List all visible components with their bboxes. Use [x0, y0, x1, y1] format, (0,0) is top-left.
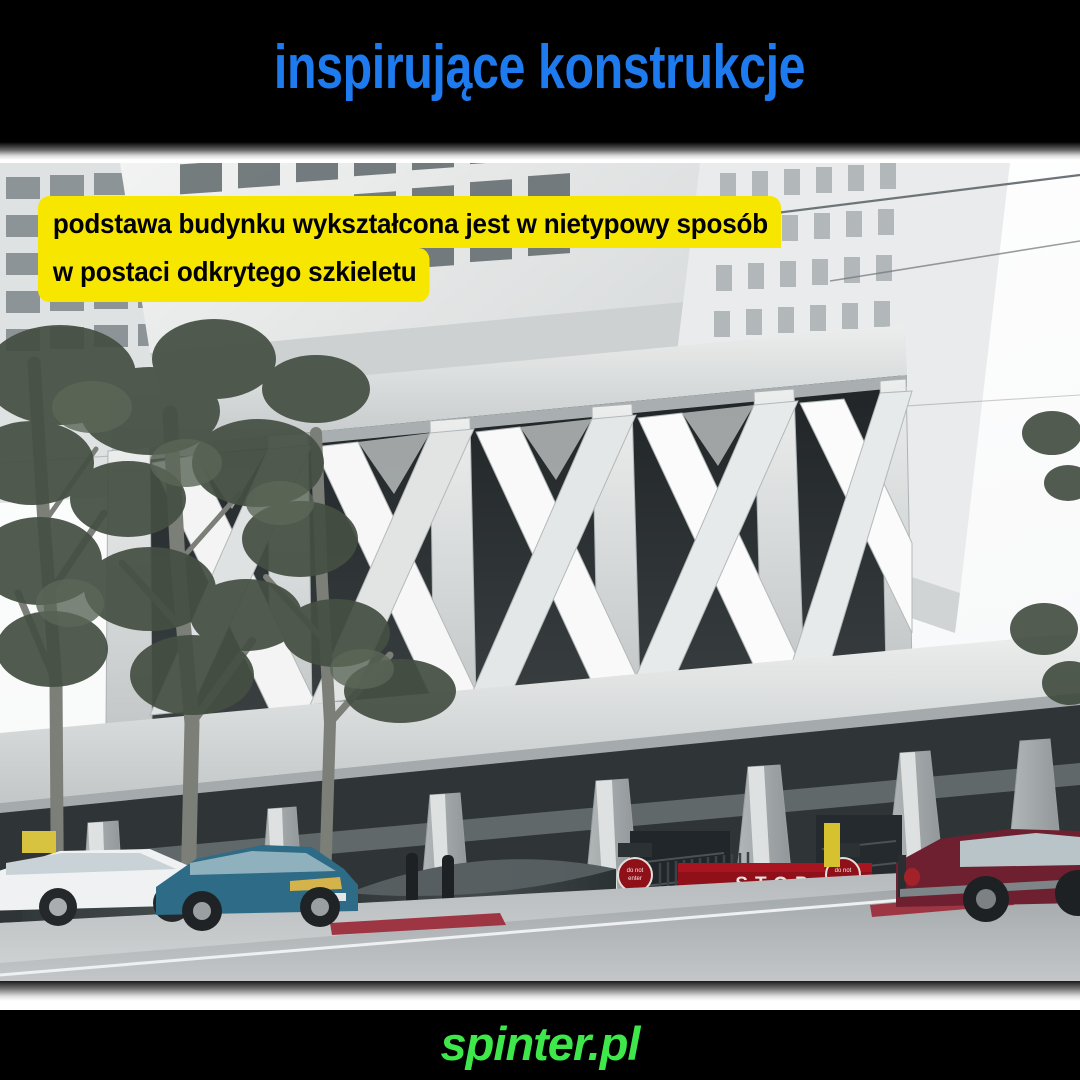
- yellow-bollard: [824, 823, 840, 867]
- page-title: inspirujące konstrukcje: [274, 37, 805, 105]
- footer-bar: spinter.pl: [0, 1010, 1080, 1080]
- yellow-van-roof: [22, 831, 56, 853]
- brand-logo[interactable]: spinter.pl: [441, 1020, 640, 1070]
- header-bar: inspirujące konstrukcje: [0, 0, 1080, 142]
- svg-text:do not: do not: [627, 868, 644, 874]
- svg-text:do not: do not: [835, 868, 852, 874]
- poster: inspirujące konstrukcje: [0, 0, 1080, 1080]
- footer-white-rule: [0, 1001, 1080, 1010]
- do-not-enter-sign-left: do not enter: [618, 843, 652, 892]
- header-gradient-divider: [0, 142, 1080, 160]
- caption-overlay: podstawa budynku wykształcona jest w nie…: [38, 196, 828, 302]
- svg-text:enter: enter: [628, 876, 642, 882]
- caption-line-2: w postaci odkrytego szkieletu: [38, 248, 430, 302]
- caption-line-1: podstawa budynku wykształcona jest w nie…: [38, 196, 781, 248]
- footer-gradient-divider: [0, 981, 1080, 1001]
